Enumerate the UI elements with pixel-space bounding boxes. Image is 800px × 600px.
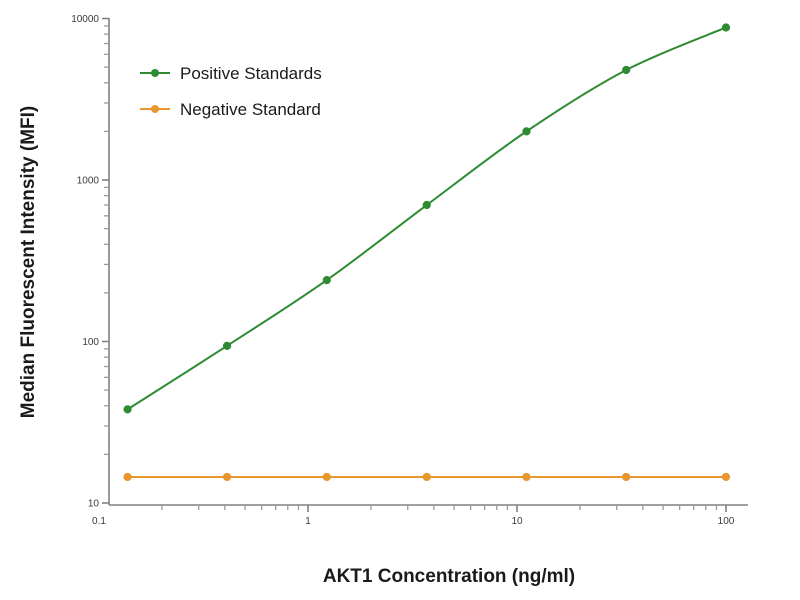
y-tick-label: 100 bbox=[82, 337, 99, 348]
data-point bbox=[423, 473, 430, 480]
x-tick-label: 0.1 bbox=[92, 516, 106, 527]
y-tick-label: 10000 bbox=[71, 14, 99, 25]
data-point bbox=[323, 473, 330, 480]
data-point bbox=[124, 406, 131, 413]
data-point bbox=[223, 342, 230, 349]
y-tick-label: 10 bbox=[88, 499, 100, 510]
legend-label: Negative Standard bbox=[180, 100, 321, 119]
x-tick-label: 100 bbox=[718, 516, 735, 527]
data-point bbox=[223, 473, 230, 480]
legend-label: Positive Standards bbox=[180, 64, 322, 83]
data-point bbox=[623, 473, 630, 480]
data-point bbox=[722, 24, 729, 31]
chart-figure: 10100100010000 0.1110100 Positive Standa… bbox=[0, 0, 800, 600]
x-tick-label: 1 bbox=[305, 516, 311, 527]
data-point bbox=[523, 128, 530, 135]
legend-swatch-marker bbox=[151, 69, 159, 77]
y-tick-label: 1000 bbox=[77, 176, 100, 187]
data-point bbox=[722, 473, 729, 480]
data-point bbox=[523, 473, 530, 480]
x-tick-label: 10 bbox=[511, 516, 523, 527]
data-point bbox=[623, 66, 630, 73]
data-point bbox=[124, 473, 131, 480]
x-axis-title: AKT1 Concentration (ng/ml) bbox=[323, 566, 575, 587]
data-point bbox=[323, 277, 330, 284]
y-axis-title: Median Fluorescent Intensity (MFI) bbox=[18, 106, 39, 418]
data-point bbox=[423, 201, 430, 208]
legend-swatch-marker bbox=[151, 105, 159, 113]
